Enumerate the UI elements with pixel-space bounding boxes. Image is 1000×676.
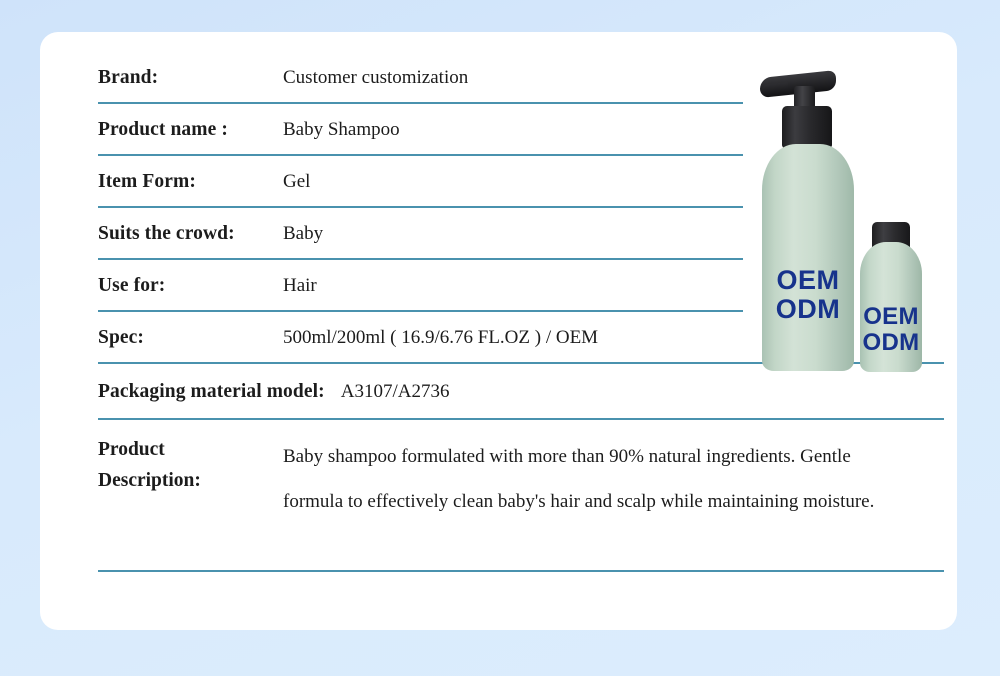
small-bottle-label: OEM ODM — [857, 304, 925, 356]
large-bottle-label-line2: ODM — [762, 295, 854, 324]
product-description-text: Baby shampoo formulated with more than 9… — [283, 434, 908, 572]
product-description-label-line1: Product — [98, 434, 283, 465]
product-spec-page: Brand: Customer customization Product na… — [0, 0, 1000, 676]
spec-label-product-name: Product name : — [98, 119, 283, 141]
spec-label-use-for: Use for: — [98, 275, 283, 297]
product-description-block: Product Description: Baby shampoo formul… — [98, 420, 943, 572]
spec-value-item-form: Gel — [283, 171, 310, 193]
spec-label-suits-the-crowd: Suits the crowd: — [98, 223, 283, 245]
spec-value-spec: 500ml/200ml ( 16.9/6.76 FL.OZ ) / OEM — [283, 327, 598, 349]
spec-value-suits-the-crowd: Baby — [283, 223, 323, 245]
large-bottle-label-line1: OEM — [762, 266, 854, 295]
spec-label-packaging-material-model: Packaging material model: — [98, 381, 325, 403]
spec-value-packaging-material-model: A3107/A2736 — [341, 381, 450, 403]
product-description-label-line2: Description: — [98, 465, 283, 496]
small-bottle-image: OEM ODM — [860, 242, 922, 372]
large-bottle-image: OEM ODM — [762, 144, 854, 371]
small-bottle-label-line2: ODM — [857, 330, 925, 356]
spec-label-spec: Spec: — [98, 327, 283, 349]
product-bottle-images: OEM ODM OEM ODM — [720, 54, 960, 384]
large-bottle-label: OEM ODM — [762, 266, 854, 324]
spec-value-use-for: Hair — [283, 275, 317, 297]
spec-value-brand: Customer customization — [283, 67, 468, 89]
small-bottle-label-line1: OEM — [857, 304, 925, 330]
spec-value-product-name: Baby Shampoo — [283, 119, 400, 141]
spec-label-brand: Brand: — [98, 67, 283, 89]
product-description-label: Product Description: — [98, 434, 283, 572]
spec-card: Brand: Customer customization Product na… — [40, 32, 957, 630]
pump-collar-icon — [782, 106, 832, 148]
row-divider — [98, 570, 944, 572]
spec-label-item-form: Item Form: — [98, 171, 283, 193]
